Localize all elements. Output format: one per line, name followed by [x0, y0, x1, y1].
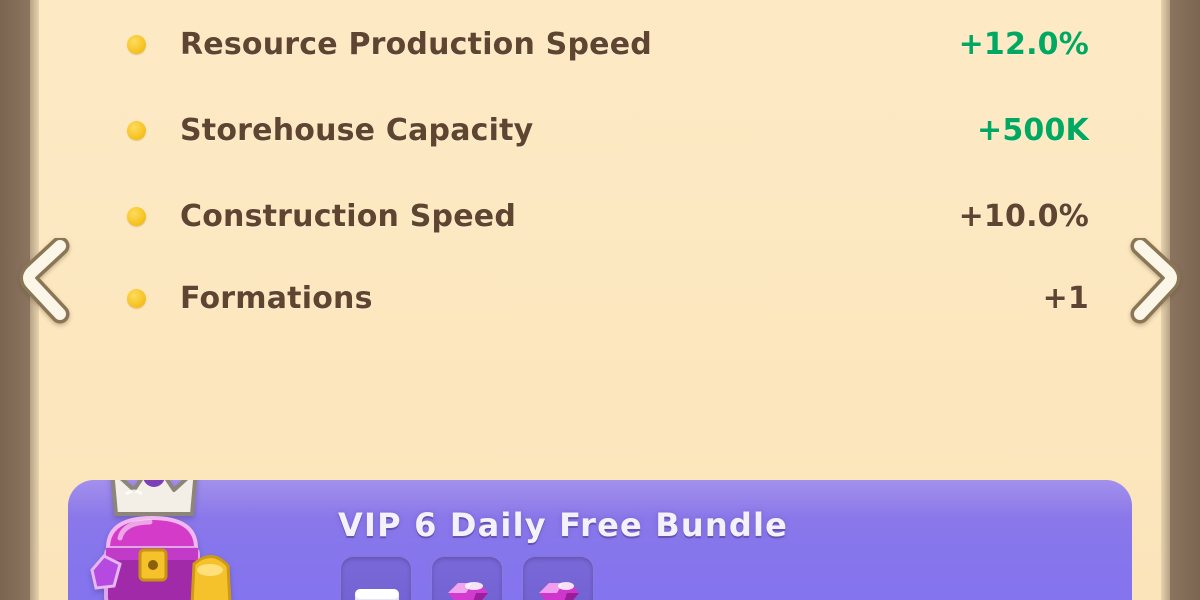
perk-label: Formations — [180, 281, 1043, 316]
vip-daily-free-bundle-card[interactable]: VIP 6 Daily Free Bundle — [68, 480, 1132, 600]
perk-row: Formations +1 — [39, 268, 1161, 328]
gem-crystal-icon — [529, 567, 589, 600]
treasure-chest-icon — [82, 480, 262, 600]
bullet-dot-icon — [127, 35, 146, 54]
bullet-dot-icon — [127, 289, 146, 308]
bundle-reward-slots — [340, 556, 594, 600]
bullet-dot-icon — [127, 207, 146, 226]
perk-list: Resource Production Speed +12.0% Storeho… — [39, 0, 1161, 350]
reward-slot[interactable] — [431, 556, 503, 600]
prev-vip-level-button[interactable] — [18, 238, 74, 324]
reward-slot[interactable] — [340, 556, 412, 600]
perk-value: +1 — [1043, 281, 1089, 316]
perk-value: +10.0% — [959, 199, 1089, 234]
bundle-title: VIP 6 Daily Free Bundle — [338, 506, 788, 544]
bullet-dot-icon — [127, 121, 146, 140]
vip-perks-panel: Resource Production Speed +12.0% Storeho… — [39, 0, 1161, 600]
perk-row: Resource Production Speed +12.0% — [39, 14, 1161, 74]
next-vip-level-button[interactable] — [1126, 238, 1182, 324]
perk-label: Storehouse Capacity — [180, 113, 977, 148]
gem-crystal-icon — [438, 567, 498, 600]
perk-row: Construction Speed +10.0% — [39, 186, 1161, 246]
perk-row: Storehouse Capacity +500K — [39, 100, 1161, 160]
reward-slot[interactable] — [522, 556, 594, 600]
perk-value: +12.0% — [959, 27, 1089, 62]
perk-label: Resource Production Speed — [180, 27, 959, 62]
perk-label: Construction Speed — [180, 199, 959, 234]
perk-value: +500K — [977, 113, 1089, 148]
vip-perks-screen: Resource Production Speed +12.0% Storeho… — [0, 0, 1200, 600]
speedup-scroll-icon — [347, 567, 407, 600]
